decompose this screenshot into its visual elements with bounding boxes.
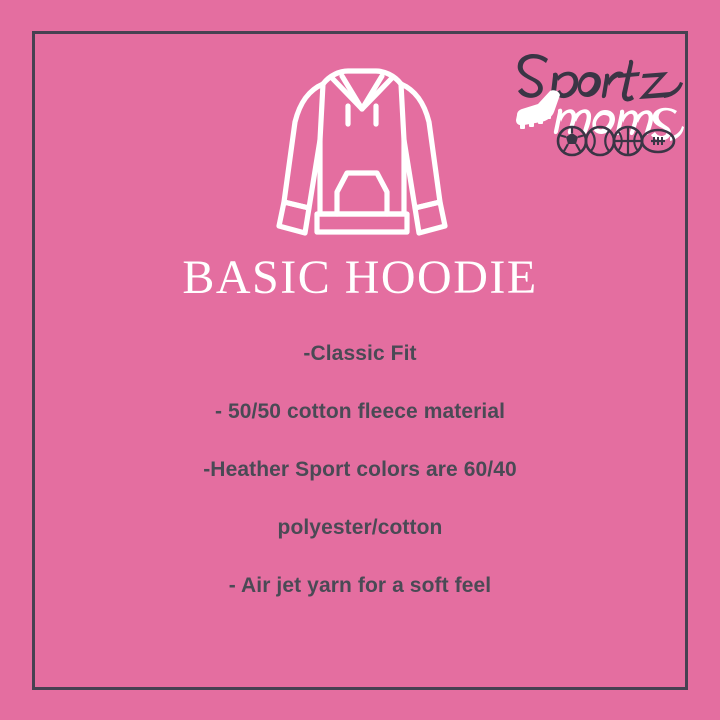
hoodie-left-sleeve: [284, 84, 323, 208]
list-item: - Air jet yarn for a soft feel: [0, 572, 720, 600]
football-icon: [642, 130, 674, 152]
hoodie-illustration: [276, 62, 448, 242]
hoodie-body: [320, 84, 404, 214]
basketball-icon: [614, 127, 642, 155]
hoodie-left-cuff: [279, 202, 309, 233]
list-item: - 50/50 cotton fleece material: [0, 398, 720, 426]
list-item: polyester/cotton: [0, 514, 720, 542]
hoodie-pocket: [337, 173, 387, 214]
list-item: -Heather Sport colors are 60/40: [0, 456, 720, 484]
list-item: -Classic Fit: [0, 340, 720, 368]
soccer-ball-icon: [558, 127, 586, 155]
product-info-card: BASIC HOODIE -Classic Fit - 50/50 cotton…: [0, 0, 720, 720]
page-title: BASIC HOODIE: [0, 250, 720, 306]
hoodie-hem: [317, 214, 407, 232]
cleat-shoe-icon: [516, 90, 560, 129]
product-feature-list: -Classic Fit - 50/50 cotton fleece mater…: [0, 340, 720, 600]
sports-balls-group: [558, 127, 674, 155]
brand-logo: [512, 36, 684, 158]
hoodie-right-cuff: [415, 202, 445, 233]
hoodie-right-sleeve: [401, 84, 440, 208]
